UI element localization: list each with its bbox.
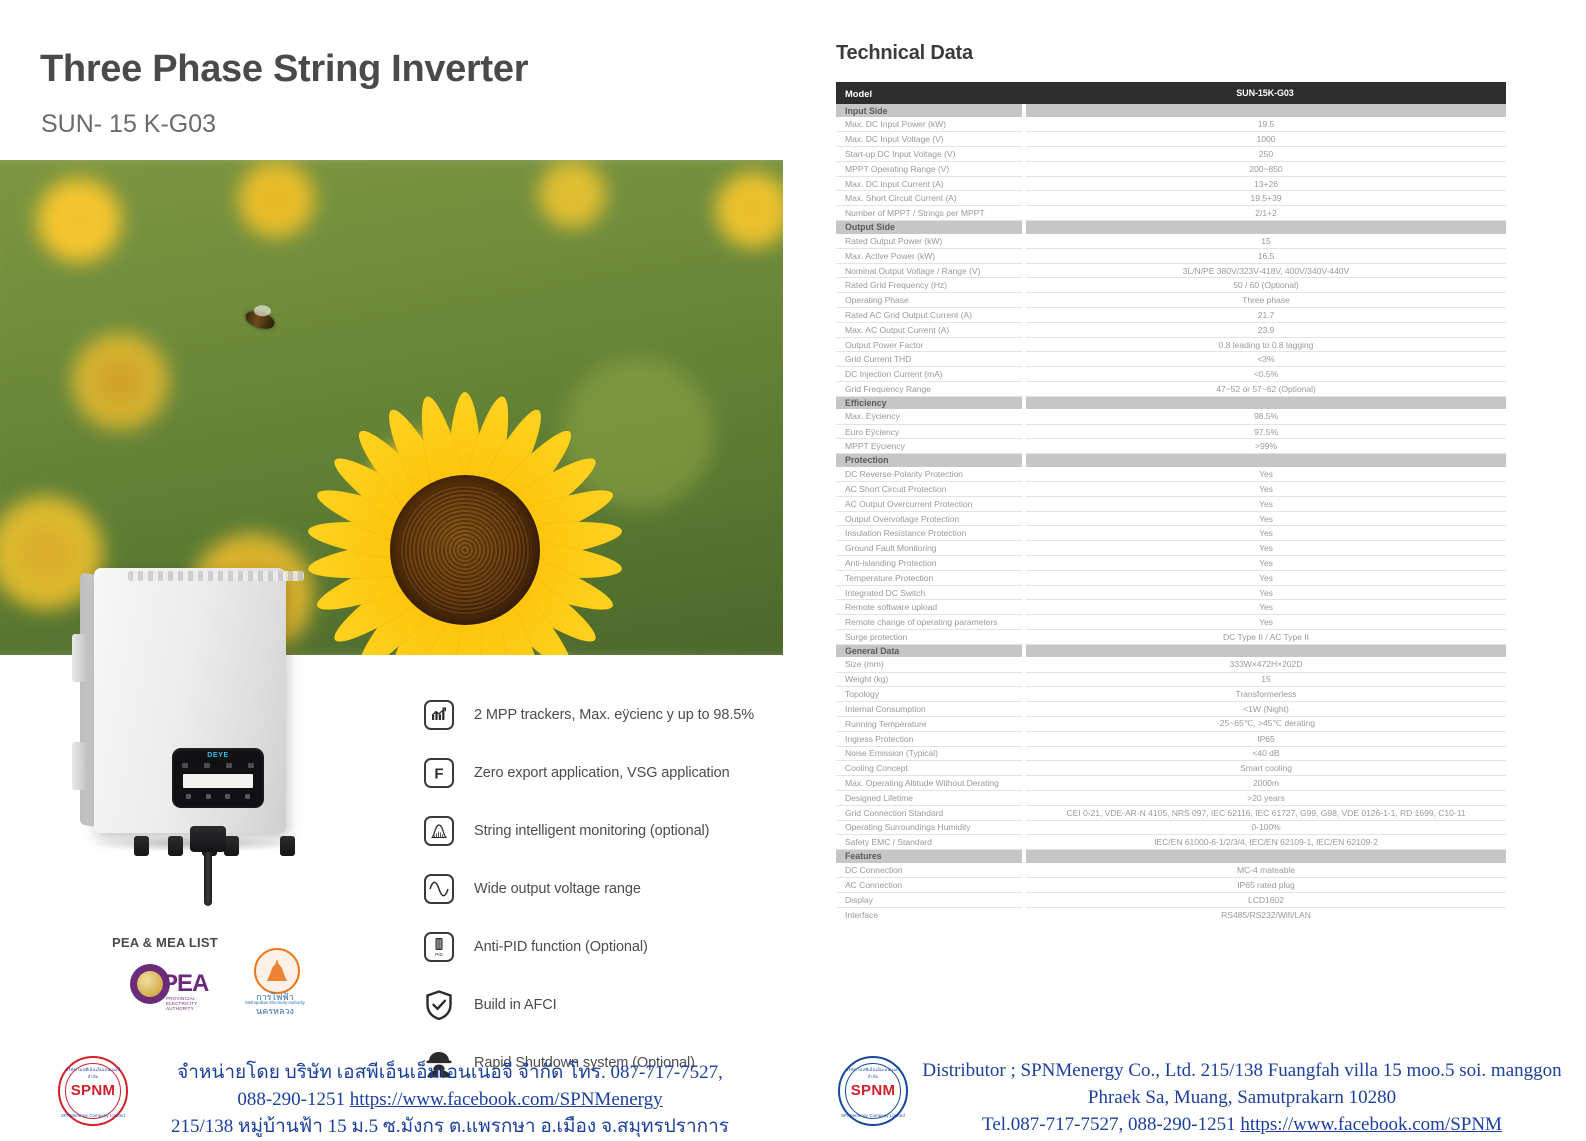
spec-row-value: Yes (1024, 600, 1506, 615)
spec-row-value: Yes (1024, 556, 1506, 571)
spec-row-label: Max. Operating Altitude Without Derating (836, 776, 1024, 791)
spec-row-label: Rated AC Grid Output Current (A) (836, 308, 1024, 323)
spec-row-value: CEI 0-21, VDE-AR-N 4105, NRS 097, IEC 62… (1024, 805, 1506, 820)
spec-row-label: Remote change of operating parameters (836, 615, 1024, 630)
footer-right-line1: Distributor ; SPNMenergy Co., Ltd. 215/1… (908, 1058, 1576, 1085)
spec-row-label: Grid Frequency Range (836, 382, 1024, 397)
inverter-brand-label: DEYE (172, 752, 264, 759)
footer-left-phone2: 088-290-1251 (237, 1089, 349, 1110)
table-row: Weight (kg)15 (836, 672, 1506, 687)
spnm-logo-arc-top-left: บริษัท เอสพีเอ็นเอ็มเอนเนอจี จำกัด (60, 1066, 126, 1080)
spec-row-label: Max. DC Input Current (A) (836, 176, 1024, 191)
table-row: Ingress ProtectionIP65 (836, 731, 1506, 746)
table-section-row: Efficiency (836, 396, 1506, 409)
spec-row-label: DC Connection (836, 863, 1024, 878)
spec-row-value: <40 dB (1024, 746, 1506, 761)
pea-logo-subtext: PROVINCIAL ELECTRICITY AUTHORITY (166, 996, 226, 1011)
footer-left-line1: จำหน่ายโดย บริษัท เอสพีเอ็นเอ็มเอนเนอจี … (130, 1060, 770, 1087)
f-letter-icon: F (424, 758, 454, 788)
footer-left-line2: 088-290-1251 https://www.facebook.com/SP… (130, 1087, 770, 1114)
spec-row-label: DC Injection Current (mA) (836, 367, 1024, 382)
spec-row-label: MPPT Operating Range (V) (836, 161, 1024, 176)
table-section-row: Features (836, 850, 1506, 863)
inverter-ac-cable (204, 842, 212, 906)
spec-row-label: Max. Short Circuit Current (A) (836, 191, 1024, 206)
table-row: Internal Consumption<1W (Night) (836, 702, 1506, 717)
spec-row-label: Rated Output Power (kW) (836, 234, 1024, 249)
footer-right-line2: Phraek Sa, Muang, Samutprakarn 10280 (908, 1085, 1576, 1112)
spec-row-value: 98.5% (1024, 409, 1506, 424)
spec-row-value: 47~52 or 57~62 (Optional) (1024, 382, 1506, 397)
table-row: Rated Output Power (kW)15 (836, 234, 1506, 249)
spec-row-label: Max. Active Power (kW) (836, 248, 1024, 263)
spec-row-label: Ground Fault Monitoring (836, 541, 1024, 556)
spec-row-value: >20 years (1024, 790, 1506, 805)
spec-row-label: Grid Connection Standard (836, 805, 1024, 820)
spnm-logo-left: บริษัท เอสพีเอ็นเอ็มเอนเนอจี จำกัด SPNM … (58, 1056, 128, 1126)
table-section-row: Input Side (836, 104, 1506, 117)
spec-row-value: Transformerless (1024, 687, 1506, 702)
spnm-logo-arc-bottom-left: SPNMenergy Company Limited (60, 1113, 126, 1118)
section-header-label: Input Side (836, 104, 1024, 117)
table-section-row: General Data (836, 644, 1506, 657)
foreground-sunflower (300, 385, 630, 655)
section-header-fill (1024, 850, 1506, 863)
table-model-label: Model (836, 82, 1024, 104)
spec-row-value: <0.5% (1024, 367, 1506, 382)
spec-row-label: Designed Lifetime (836, 790, 1024, 805)
table-row: Size (mm)333W×472H×202D (836, 657, 1506, 672)
spec-row-label: Noise Emission (Typical) (836, 746, 1024, 761)
table-row: Max. Operating Altitude Without Derating… (836, 776, 1506, 791)
spec-row-value: 19.5 (1024, 117, 1506, 132)
spec-row-value: Yes (1024, 585, 1506, 600)
spec-row-value: 16.5 (1024, 248, 1506, 263)
spec-row-label: Number of MPPT / Strings per MPPT (836, 206, 1024, 221)
spec-row-label: Max. DC Input Voltage (V) (836, 132, 1024, 147)
table-row: Max. DC Input Voltage (V)1000 (836, 132, 1506, 147)
feature-label: String intelligent monitoring (optional) (474, 823, 709, 839)
spec-row-label: Ingress Protection (836, 731, 1024, 746)
spec-row-value: 3L/N/PE 380V/323V-418V, 400V/340V-440V (1024, 263, 1506, 278)
feature-item: Build in AFCI (424, 976, 784, 1034)
spec-row-value: Smart cooling (1024, 761, 1506, 776)
spec-row-value: LCD1602 (1024, 892, 1506, 907)
table-row: InterfaceRS485/RS232/Wifi/LAN (836, 907, 1506, 922)
feature-list: 2 MPP trackers, Max. eÿcienc y up to 98.… (424, 686, 784, 1092)
spec-row-value: Three phase (1024, 293, 1506, 308)
table-row: Remote change of operating parametersYes (836, 615, 1506, 630)
spec-row-value: Yes (1024, 570, 1506, 585)
spec-row-label: Insulation Resistance Protection (836, 526, 1024, 541)
spec-row-value: 333W×472H×202D (1024, 657, 1506, 672)
table-row: TopologyTransformerless (836, 687, 1506, 702)
inverter-status-leds (182, 763, 254, 770)
spec-row-label: Size (mm) (836, 657, 1024, 672)
spec-row-label: Interface (836, 907, 1024, 922)
table-row: DC ConnectionMC-4 mateable (836, 863, 1506, 878)
spec-row-label: Remote software upload (836, 600, 1024, 615)
table-row: Operating Surroundings Humidity0-100% (836, 820, 1506, 835)
spec-row-value: -25~65℃, >45℃ derating (1024, 716, 1506, 731)
spec-row-value: Yes (1024, 467, 1506, 482)
left-column: Three Phase String Inverter SUN- 15 K-G0… (0, 0, 820, 1122)
spec-row-label: AC Output Overcurrent Protection (836, 496, 1024, 511)
table-row: Max. Eÿciency98.5% (836, 409, 1506, 424)
table-row: Running Temperature-25~65℃, >45℃ deratin… (836, 716, 1506, 731)
technical-data-table: ModelSUN-15K-G03Input SideMax. DC Input … (836, 82, 1506, 922)
feature-label: 2 MPP trackers, Max. eÿcienc y up to 98.… (474, 707, 754, 723)
table-row: Rated Grid Frequency (Hz)50 / 60 (Option… (836, 278, 1506, 293)
spec-row-label: Operating Surroundings Humidity (836, 820, 1024, 835)
waveform-curve-icon (424, 816, 454, 846)
spec-row-label: Start-up DC Input Voltage (V) (836, 147, 1024, 162)
spec-row-label: Temperature Protection (836, 570, 1024, 585)
table-row: Noise Emission (Typical)<40 dB (836, 746, 1506, 761)
table-row: Grid Connection StandardCEI 0-21, VDE-AR… (836, 805, 1506, 820)
page-subtitle: SUN- 15 K-G03 (41, 112, 216, 137)
spec-row-value: 50 / 60 (Optional) (1024, 278, 1506, 293)
spec-row-label: Max. AC Output Current (A) (836, 322, 1024, 337)
table-row: Rated AC Grid Output Current (A)21.7 (836, 308, 1506, 323)
spec-row-value: 0-100% (1024, 820, 1506, 835)
page-title: Three Phase String Inverter (40, 50, 528, 88)
spec-row-value: 19.5+39 (1024, 191, 1506, 206)
table-row: Grid Current THD<3% (836, 352, 1506, 367)
spec-row-value: 200~850 (1024, 161, 1506, 176)
table-row: Operating PhaseThree phase (836, 293, 1506, 308)
feature-label: Anti-PID function (Optional) (474, 939, 648, 955)
feature-label: Wide output voltage range (474, 881, 641, 897)
shield-check-icon (424, 990, 454, 1020)
spec-row-value: IP65 (1024, 731, 1506, 746)
spec-row-label: Cooling Concept (836, 761, 1024, 776)
spec-row-label: Running Temperature (836, 716, 1024, 731)
spec-row-label: Topology (836, 687, 1024, 702)
section-header-label: Features (836, 850, 1024, 863)
section-header-label: Protection (836, 454, 1024, 467)
spec-row-value: 15 (1024, 234, 1506, 249)
footer-right-line3: Tel.087-717-7527, 088-290-1251 https://w… (908, 1112, 1576, 1139)
spnm-logo-arc-top-right: บริษัท เอสพีเอ็นเอ็มเอนเนอจี จำกัด (840, 1066, 906, 1080)
table-row: DC Reverse-Polarity ProtectionYes (836, 467, 1506, 482)
spnm-logo-right: บริษัท เอสพีเอ็นเอ็มเอนเนอจี จำกัด SPNM … (838, 1056, 908, 1126)
sine-wave-icon (424, 874, 454, 904)
facebook-link-right[interactable]: https://www.facebook.com/SPNM (1240, 1114, 1502, 1135)
section-header-fill (1024, 644, 1506, 657)
spec-row-label: Operating Phase (836, 293, 1024, 308)
spec-row-value: IP65 rated plug (1024, 877, 1506, 892)
spec-row-label: AC Connection (836, 877, 1024, 892)
table-row: Max. DC Input Power (kW)19.5 (836, 117, 1506, 132)
spec-row-label: Safety EMC / Standard (836, 835, 1024, 850)
spec-row-value: <1W (Night) (1024, 702, 1506, 717)
spec-row-value: MC-4 mateable (1024, 863, 1506, 878)
table-row: Insulation Resistance ProtectionYes (836, 526, 1506, 541)
spec-row-value: Yes (1024, 482, 1506, 497)
feature-item: PIDAnti-PID function (Optional) (424, 918, 784, 976)
table-header-row: ModelSUN-15K-G03 (836, 82, 1506, 104)
spec-row-value: 2000m (1024, 776, 1506, 791)
spnm-logo-text-right: SPNM (840, 1082, 906, 1099)
inverter-buttons (186, 794, 250, 800)
spec-row-value: 97.5% (1024, 424, 1506, 439)
spec-row-label: Euro Eÿciency (836, 424, 1024, 439)
inverter-mount-bracket-bottom (72, 742, 88, 790)
table-section-row: Protection (836, 454, 1506, 467)
footer-left-text: จำหน่ายโดย บริษัท เอสพีเอ็นเอ็มเอนเนอจี … (130, 1060, 770, 1141)
spec-row-label: Rated Grid Frequency (Hz) (836, 278, 1024, 293)
spec-row-value: >99% (1024, 439, 1506, 454)
footer-left-line3: 215/138 หมู่บ้านฟ้า 15 ม.5 ซ.มังกร ต.แพร… (130, 1114, 770, 1141)
svg-text:F: F (434, 766, 443, 783)
mea-logo-english-text: Metropolitan Electricity Authority (238, 1000, 312, 1005)
table-row: Max. DC Input Current (A)13+26 (836, 176, 1506, 191)
chart-trend-icon (424, 700, 454, 730)
spec-row-label: MPPT Eÿciency (836, 439, 1024, 454)
spec-row-label: Integrated DC Switch (836, 585, 1024, 600)
table-row: Ground Fault MonitoringYes (836, 541, 1506, 556)
pea-logo-text: PEA (162, 970, 208, 998)
inverter-mount-bracket-top (72, 634, 88, 682)
datasheet-page: Three Phase String Inverter SUN- 15 K-G0… (0, 0, 1586, 1122)
table-row: Cooling ConceptSmart cooling (836, 761, 1506, 776)
spec-row-value: <3% (1024, 352, 1506, 367)
table-row: Grid Frequency Range47~52 or 57~62 (Opti… (836, 382, 1506, 397)
spec-row-value: 21.7 (1024, 308, 1506, 323)
table-row: Output Overvoltage ProtectionYes (836, 511, 1506, 526)
table-row: DisplayLCD1602 (836, 892, 1506, 907)
mea-logo-mark (254, 948, 300, 994)
spec-row-label: Max. DC Input Power (kW) (836, 117, 1024, 132)
spnm-logo-text-left: SPNM (60, 1082, 126, 1099)
table-row: Designed Lifetime>20 years (836, 790, 1506, 805)
spec-row-value: DC Type II / AC Type II (1024, 630, 1506, 645)
spec-row-value: 1000 (1024, 132, 1506, 147)
facebook-link-left[interactable]: https://www.facebook.com/SPNMenergy (350, 1089, 663, 1110)
table-row: Remote software uploadYes (836, 600, 1506, 615)
spec-row-label: Output Overvoltage Protection (836, 511, 1024, 526)
section-header-label: General Data (836, 644, 1024, 657)
section-header-fill (1024, 454, 1506, 467)
footer-right-phone: Tel.087-717-7527, 088-290-1251 (982, 1114, 1240, 1135)
table-row: Safety EMC / StandardIEC/EN 61000-6-1/2/… (836, 835, 1506, 850)
spec-row-value: 23.9 (1024, 322, 1506, 337)
feature-item: 2 MPP trackers, Max. eÿcienc y up to 98.… (424, 686, 784, 744)
table-model-value: SUN-15K-G03 (1024, 82, 1506, 104)
footer-right-text: Distributor ; SPNMenergy Co., Ltd. 215/1… (908, 1058, 1576, 1139)
right-column: Technical Data ModelSUN-15K-G03Input Sid… (820, 0, 1586, 1122)
spec-row-value: IEC/EN 61000-6-1/2/3/4, IEC/EN 62109-1, … (1024, 835, 1506, 850)
technical-data-title: Technical Data (836, 42, 973, 65)
table-row: AC Short Circuit ProtectionYes (836, 482, 1506, 497)
section-header-fill (1024, 221, 1506, 234)
spec-row-value: Yes (1024, 496, 1506, 511)
table-row: MPPT Eÿciency>99% (836, 439, 1506, 454)
feature-item: FZero export application, VSG applicatio… (424, 744, 784, 802)
table-row: Nominal Output Voltage / Range (V)3L/N/P… (836, 263, 1506, 278)
table-row: DC Injection Current (mA)<0.5% (836, 367, 1506, 382)
spec-row-label: Surge protection (836, 630, 1024, 645)
table-row: AC Output Overcurrent ProtectionYes (836, 496, 1506, 511)
certification-label: PEA & MEA LIST (112, 935, 218, 950)
spec-row-value: 0.8 leading to 0.8 lagging (1024, 337, 1506, 352)
spec-row-value: RS485/RS232/Wifi/LAN (1024, 907, 1506, 922)
section-header-label: Output Side (836, 221, 1024, 234)
feature-label: Zero export application, VSG application (474, 765, 730, 781)
table-row: Temperature ProtectionYes (836, 570, 1506, 585)
table-row: Output Power Factor0.8 leading to 0.8 la… (836, 337, 1506, 352)
table-row: Integrated DC SwitchYes (836, 585, 1506, 600)
spec-row-label: Max. Eÿciency (836, 409, 1024, 424)
feature-item: String intelligent monitoring (optional) (424, 802, 784, 860)
mea-logo: การไฟฟ้านครหลวง Metropolitan Electricity… (238, 948, 312, 1006)
inverter-body: DEYE (94, 568, 286, 833)
table-section-row: Output Side (836, 221, 1506, 234)
table-row: Surge protectionDC Type II / AC Type II (836, 630, 1506, 645)
section-header-fill (1024, 104, 1506, 117)
spec-row-label: Nominal Output Voltage / Range (V) (836, 263, 1024, 278)
spec-row-label: Display (836, 892, 1024, 907)
table-row: MPPT Operating Range (V)200~850 (836, 161, 1506, 176)
spec-row-value: Yes (1024, 526, 1506, 541)
feature-label: Build in AFCI (474, 997, 557, 1013)
spec-row-value: Yes (1024, 541, 1506, 556)
table-row: Max. Short Circuit Current (A)19.5+39 (836, 191, 1506, 206)
table-row: Euro Eÿciency97.5% (836, 424, 1506, 439)
sunflower-disc (390, 475, 540, 625)
pea-logo: PEA PROVINCIAL ELECTRICITY AUTHORITY (130, 962, 226, 1006)
section-header-label: Efficiency (836, 396, 1024, 409)
spec-row-label: Internal Consumption (836, 702, 1024, 717)
spec-row-value: 2/1+2 (1024, 206, 1506, 221)
table-row: Max. AC Output Current (A)23.9 (836, 322, 1506, 337)
spec-row-value: 250 (1024, 147, 1506, 162)
spec-row-label: DC Reverse-Polarity Protection (836, 467, 1024, 482)
spec-row-value: 15 (1024, 672, 1506, 687)
table-row: Start-up DC Input Voltage (V)250 (836, 147, 1506, 162)
inverter-control-panel: DEYE (172, 748, 264, 808)
table-row: Number of MPPT / Strings per MPPT2/1+2 (836, 206, 1506, 221)
inverter-product-image: DEYE (72, 560, 322, 890)
spec-row-label: Anti-islanding Protection (836, 556, 1024, 571)
spec-row-value: Yes (1024, 615, 1506, 630)
table-row: Anti-islanding ProtectionYes (836, 556, 1506, 571)
table-row: AC ConnectionIP65 rated plug (836, 877, 1506, 892)
inverter-heatsink-fins (128, 571, 304, 581)
spec-row-label: Output Power Factor (836, 337, 1024, 352)
spec-row-value: 13+26 (1024, 176, 1506, 191)
section-header-fill (1024, 396, 1506, 409)
table-row: Max. Active Power (kW)16.5 (836, 248, 1506, 263)
spnm-logo-arc-bottom-right: SPNMenergy Company Limited (840, 1113, 906, 1118)
spec-row-label: Grid Current THD (836, 352, 1024, 367)
svg-text:PID: PID (435, 952, 443, 957)
spec-row-label: AC Short Circuit Protection (836, 482, 1024, 497)
spec-row-label: Weight (kg) (836, 672, 1024, 687)
pid-module-icon: PID (424, 932, 454, 962)
spec-row-value: Yes (1024, 511, 1506, 526)
inverter-lcd-display (183, 774, 253, 788)
feature-item: Wide output voltage range (424, 860, 784, 918)
